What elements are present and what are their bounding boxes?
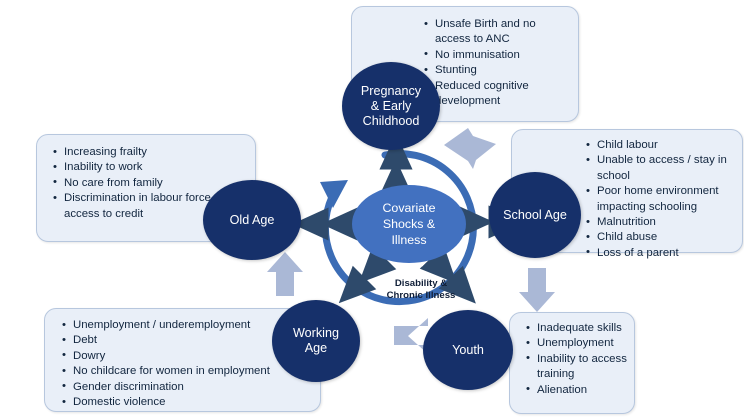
disability-chronic-illness-label: Disability & Chronic Illness (366, 278, 476, 301)
label-line: Working (293, 326, 339, 340)
label-line: Disability & (395, 278, 447, 289)
stage-node-label: Youth (452, 343, 484, 358)
label-line: & Early (371, 99, 412, 113)
stage-node-label: School Age (503, 208, 567, 223)
hub-covariate-shocks[interactable]: Covariate Shocks & Illness (352, 185, 466, 263)
label-line: Chronic Illness (387, 290, 456, 301)
stage-node-label: Old Age (230, 213, 275, 228)
hub-label: Covariate Shocks & Illness (382, 200, 435, 248)
label-line: Childhood (363, 114, 420, 128)
cycle-ring-arrowhead (320, 180, 348, 208)
label-line: Shocks & (383, 217, 435, 231)
stage-node-school-age[interactable]: School Age (489, 172, 581, 258)
stage-node-label: Pregnancy & Early Childhood (361, 84, 421, 129)
stage-node-label: Working Age (293, 326, 339, 356)
stage-node-pregnancy[interactable]: Pregnancy & Early Childhood (342, 62, 440, 150)
stage-node-youth[interactable]: Youth (423, 310, 513, 390)
stage-node-working-age[interactable]: Working Age (272, 300, 360, 382)
label-line: Pregnancy (361, 84, 421, 98)
stage-node-old-age[interactable]: Old Age (203, 180, 301, 260)
lifecycle-diagram: Unsafe Birth and no access to ANC No imm… (0, 0, 744, 418)
label-line: Illness (391, 233, 426, 247)
label-line: Covariate (382, 201, 435, 215)
label-line: Age (305, 341, 327, 355)
